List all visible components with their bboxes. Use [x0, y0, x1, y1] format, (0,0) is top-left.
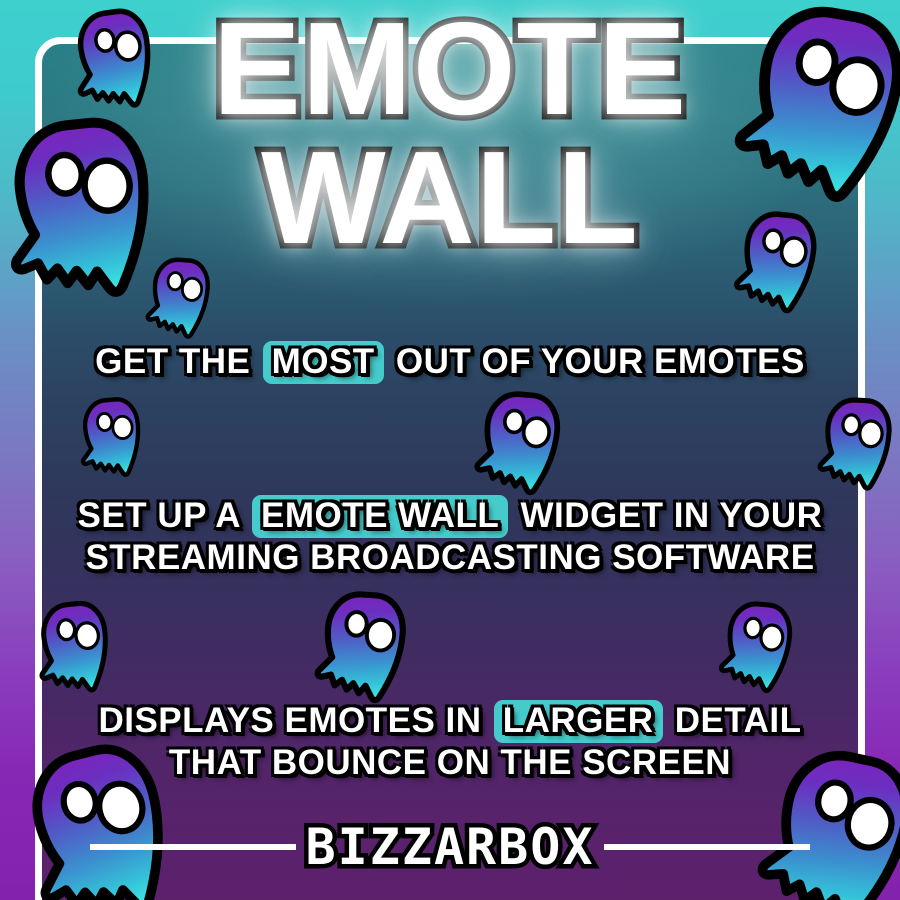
ghost-row3-left-icon	[33, 598, 114, 697]
tagline-widget-line-2: STREAMING BROADCASTING SOFTWARE	[0, 538, 900, 577]
ghost-row3-right-icon	[718, 599, 796, 695]
tagline-text: DETAIL	[665, 701, 802, 740]
ghost-title-small-icon	[145, 256, 212, 340]
title-line-1: EMOTE	[0, 6, 900, 131]
ghost-row3-center-icon	[314, 589, 409, 705]
ghost-row2-right-icon	[818, 396, 895, 492]
highlight-chip: LARGER	[494, 700, 663, 743]
tagline-text: WIDGET IN YOUR	[510, 496, 822, 535]
poster-canvas: EMOTE WALL GET THE MOST OUT OF YOUR EMOT…	[0, 0, 900, 900]
page-title: EMOTE WALL	[0, 6, 900, 261]
tagline-text: OUT OF YOUR EMOTES	[386, 342, 805, 381]
tagline-widget-line-1: SET UP A EMOTE WALL WIDGET IN YOUR	[0, 495, 900, 538]
tagline-most-line-1: GET THE MOST OUT OF YOUR EMOTES	[0, 341, 900, 384]
highlight-chip: MOST	[263, 341, 384, 384]
highlight-chip: EMOTE WALL	[252, 495, 508, 538]
tagline-larger: DISPLAYS EMOTES IN LARGER DETAIL THAT BO…	[0, 700, 900, 782]
title-line-2: WALL	[0, 135, 900, 260]
tagline-larger-line-2: THAT BOUNCE ON THE SCREEN	[0, 743, 900, 782]
tagline-most: GET THE MOST OUT OF YOUR EMOTES	[0, 341, 900, 384]
tagline-text: DISPLAYS EMOTES IN	[98, 701, 491, 740]
ghost-row2-center-icon	[474, 389, 565, 498]
tagline-widget: SET UP A EMOTE WALL WIDGET IN YOUR STREA…	[0, 495, 900, 577]
tagline-larger-line-1: DISPLAYS EMOTES IN LARGER DETAIL	[0, 700, 900, 743]
brand-rule-left	[90, 844, 296, 850]
tagline-text: SET UP A	[78, 496, 250, 535]
ghost-row2-left-icon	[77, 395, 146, 480]
tagline-text: GET THE	[95, 342, 260, 381]
brand-footer: BIZZARBOX	[0, 818, 900, 876]
brand-rule-right	[604, 844, 810, 850]
brand-name: BIZZARBOX	[296, 818, 605, 876]
